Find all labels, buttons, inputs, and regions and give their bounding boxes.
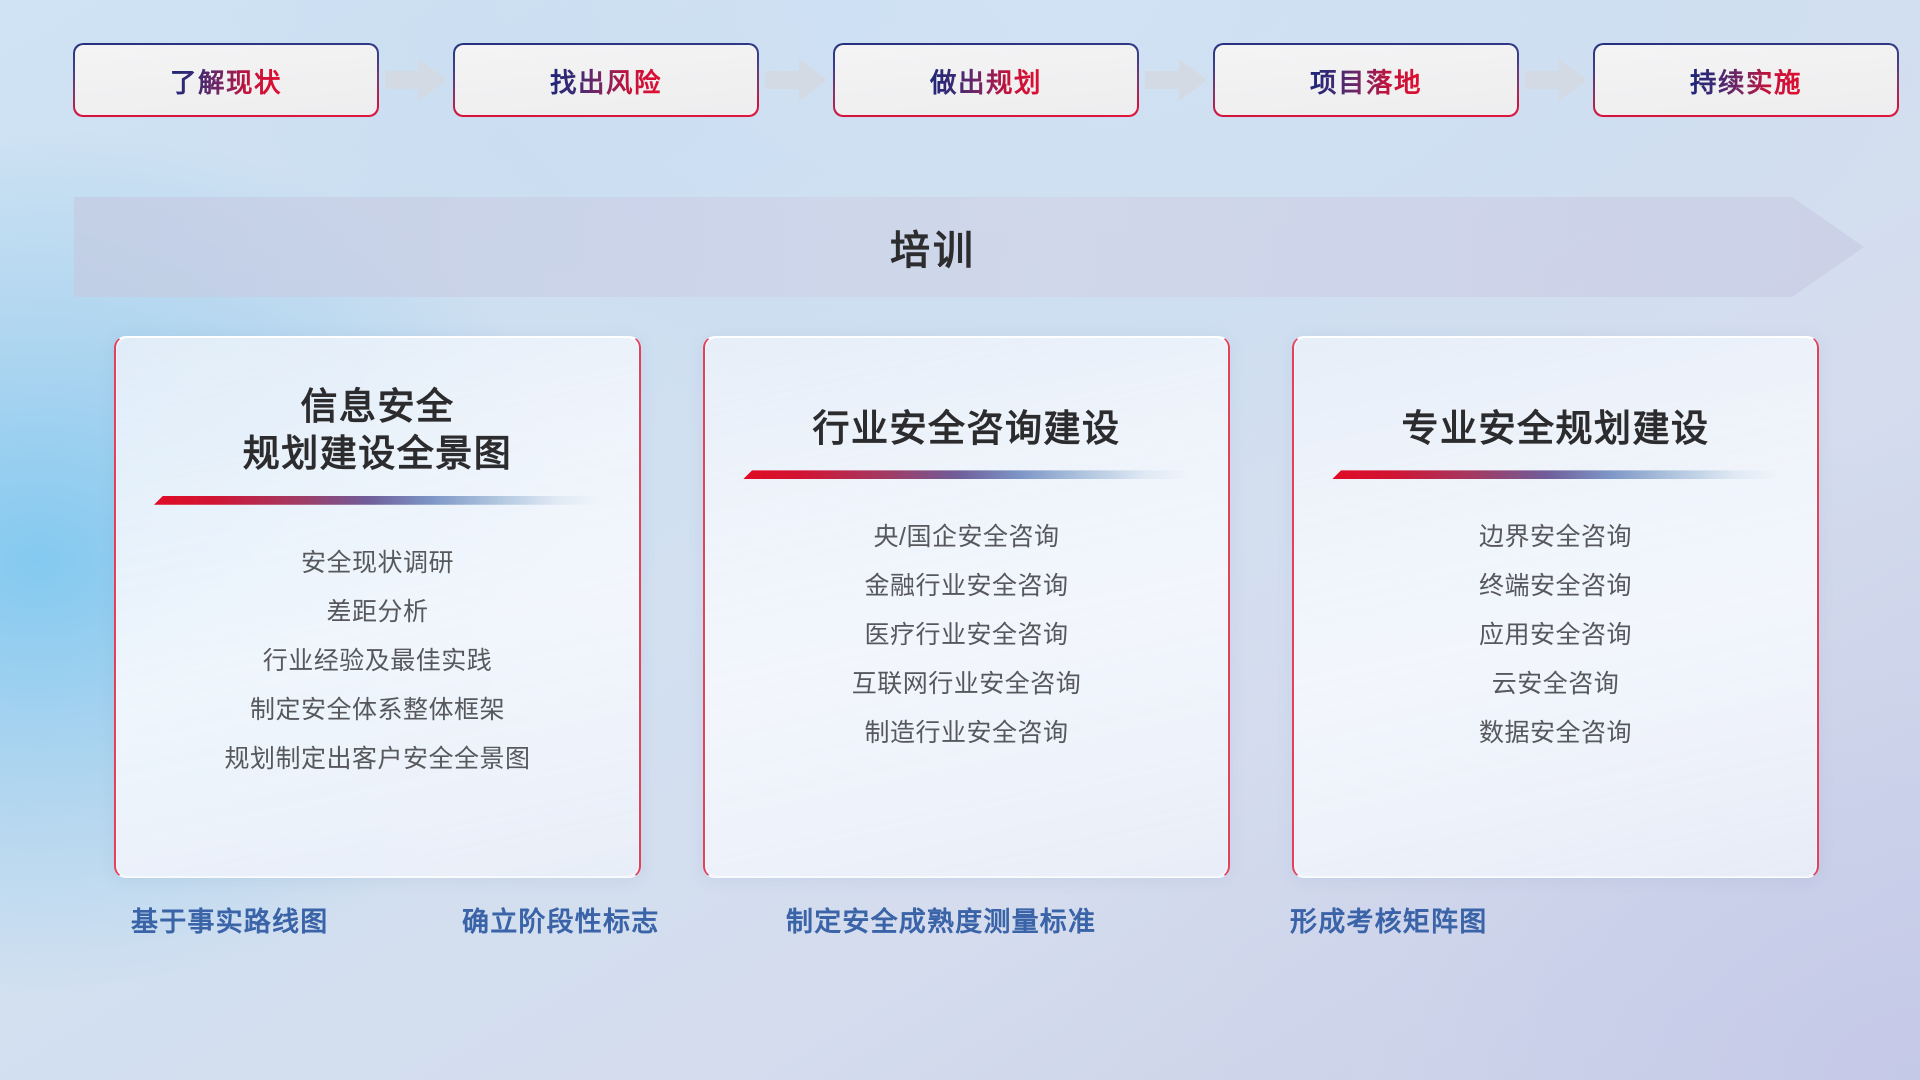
training-banner: 培训 [74,197,1864,297]
list-item: 互联网行业安全咨询 [729,660,1204,709]
arrow-right-icon [1525,59,1587,101]
list-item: 制造行业安全咨询 [729,709,1204,758]
list-item: 医疗行业安全咨询 [729,611,1204,660]
card-title-line1: 行业安全咨询建设 [813,408,1121,449]
step-label: 了解现状 [170,61,282,100]
step-label: 做出规划 [930,61,1042,100]
arrow-right-icon [1145,59,1207,101]
arrow-right-icon [385,59,447,101]
card-0[interactable]: 信息安全 规划建设全景图 安全现状调研 差距分析 行业经验及最佳实践 制定安全体… [114,336,641,878]
card-list: 边界安全咨询 终端安全咨询 应用安全咨询 云安全咨询 数据安全咨询 [1294,479,1817,758]
step-box-0[interactable]: 了解现状 [74,44,378,116]
list-item: 应用安全咨询 [1318,611,1793,660]
step-box-1[interactable]: 找出风险 [454,44,758,116]
process-step-row: 了解现状 找出风险 做出规划 项目落地 持续实施 [0,0,1920,160]
list-item: 行业经验及最佳实践 [140,637,615,686]
card-title-line2: 规划建设全景图 [146,430,609,477]
card-divider [1332,470,1779,479]
card-list: 央/国企安全咨询 金融行业安全咨询 医疗行业安全咨询 互联网行业安全咨询 制造行… [705,479,1228,758]
card-title: 信息安全 规划建设全景图 [116,337,639,478]
list-item: 规划制定出客户安全全景图 [140,735,615,784]
step-box-4[interactable]: 持续实施 [1594,44,1898,116]
bottom-label-2: 制定安全成熟度测量标准 [786,900,1096,939]
banner-title: 培训 [74,197,1792,297]
bottom-label-0: 基于事实路线图 [131,900,328,939]
card-title: 专业安全规划建设 [1294,337,1817,452]
list-item: 终端安全咨询 [1318,562,1793,611]
list-item: 安全现状调研 [140,539,615,588]
list-item: 边界安全咨询 [1318,513,1793,562]
list-item: 制定安全体系整体框架 [140,686,615,735]
card-2[interactable]: 专业安全规划建设 边界安全咨询 终端安全咨询 应用安全咨询 云安全咨询 数据安全… [1292,336,1819,878]
step-label: 项目落地 [1310,61,1422,100]
bottom-label-3: 形成考核矩阵图 [1290,900,1487,939]
list-item: 差距分析 [140,588,615,637]
card-1[interactable]: 行业安全咨询建设 央/国企安全咨询 金融行业安全咨询 医疗行业安全咨询 互联网行… [703,336,1230,878]
arrow-right-icon [765,59,827,101]
card-divider [154,496,601,505]
step-box-3[interactable]: 项目落地 [1214,44,1518,116]
card-row: 信息安全 规划建设全景图 安全现状调研 差距分析 行业经验及最佳实践 制定安全体… [0,336,1920,876]
step-label: 持续实施 [1690,61,1802,100]
list-item: 金融行业安全咨询 [729,562,1204,611]
card-divider [743,470,1190,479]
card-title-line1: 信息安全 [301,386,455,427]
bottom-label-row: 基于事实路线图 确立阶段性标志 制定安全成熟度测量标准 形成考核矩阵图 [0,900,1920,980]
step-label: 找出风险 [550,61,662,100]
step-box-2[interactable]: 做出规划 [834,44,1138,116]
list-item: 数据安全咨询 [1318,709,1793,758]
list-item: 央/国企安全咨询 [729,513,1204,562]
bottom-label-1: 确立阶段性标志 [462,900,659,939]
list-item: 云安全咨询 [1318,660,1793,709]
card-title-line1: 专业安全规划建设 [1402,408,1710,449]
card-list: 安全现状调研 差距分析 行业经验及最佳实践 制定安全体系整体框架 规划制定出客户… [116,505,639,784]
card-title: 行业安全咨询建设 [705,337,1228,452]
